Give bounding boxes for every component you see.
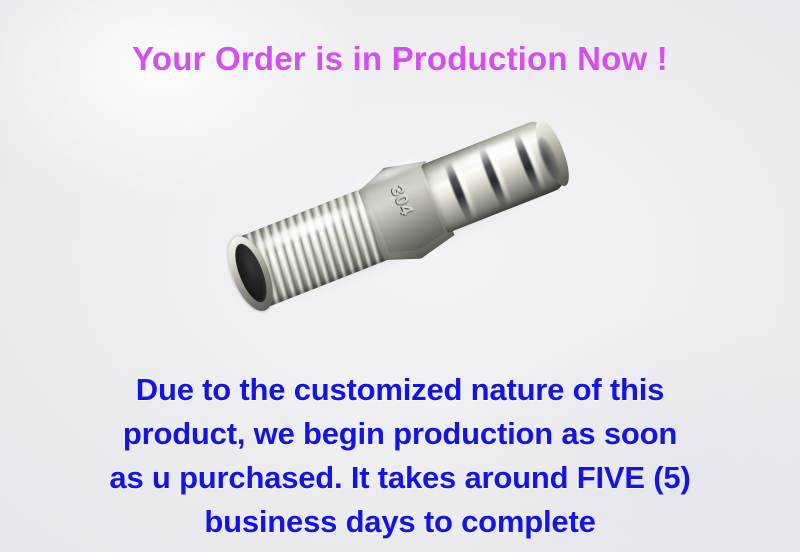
fitting-assembly: 304 (201, 63, 582, 331)
page-title: Your Order is in Production Now ! (0, 40, 800, 78)
notice-line: business days to complete (0, 500, 800, 544)
notice-line: as u purchased. It takes around FIVE (5) (0, 456, 800, 500)
notice-line: Due to the customized nature of this (0, 368, 800, 412)
notice-line: product, we begin production as soon (0, 412, 800, 456)
product-photo: 304 (243, 176, 593, 326)
promo-image-canvas: Your Order is in Production Now ! 304 (0, 0, 800, 552)
production-notice-text: Due to the customized nature of this pro… (0, 368, 800, 544)
